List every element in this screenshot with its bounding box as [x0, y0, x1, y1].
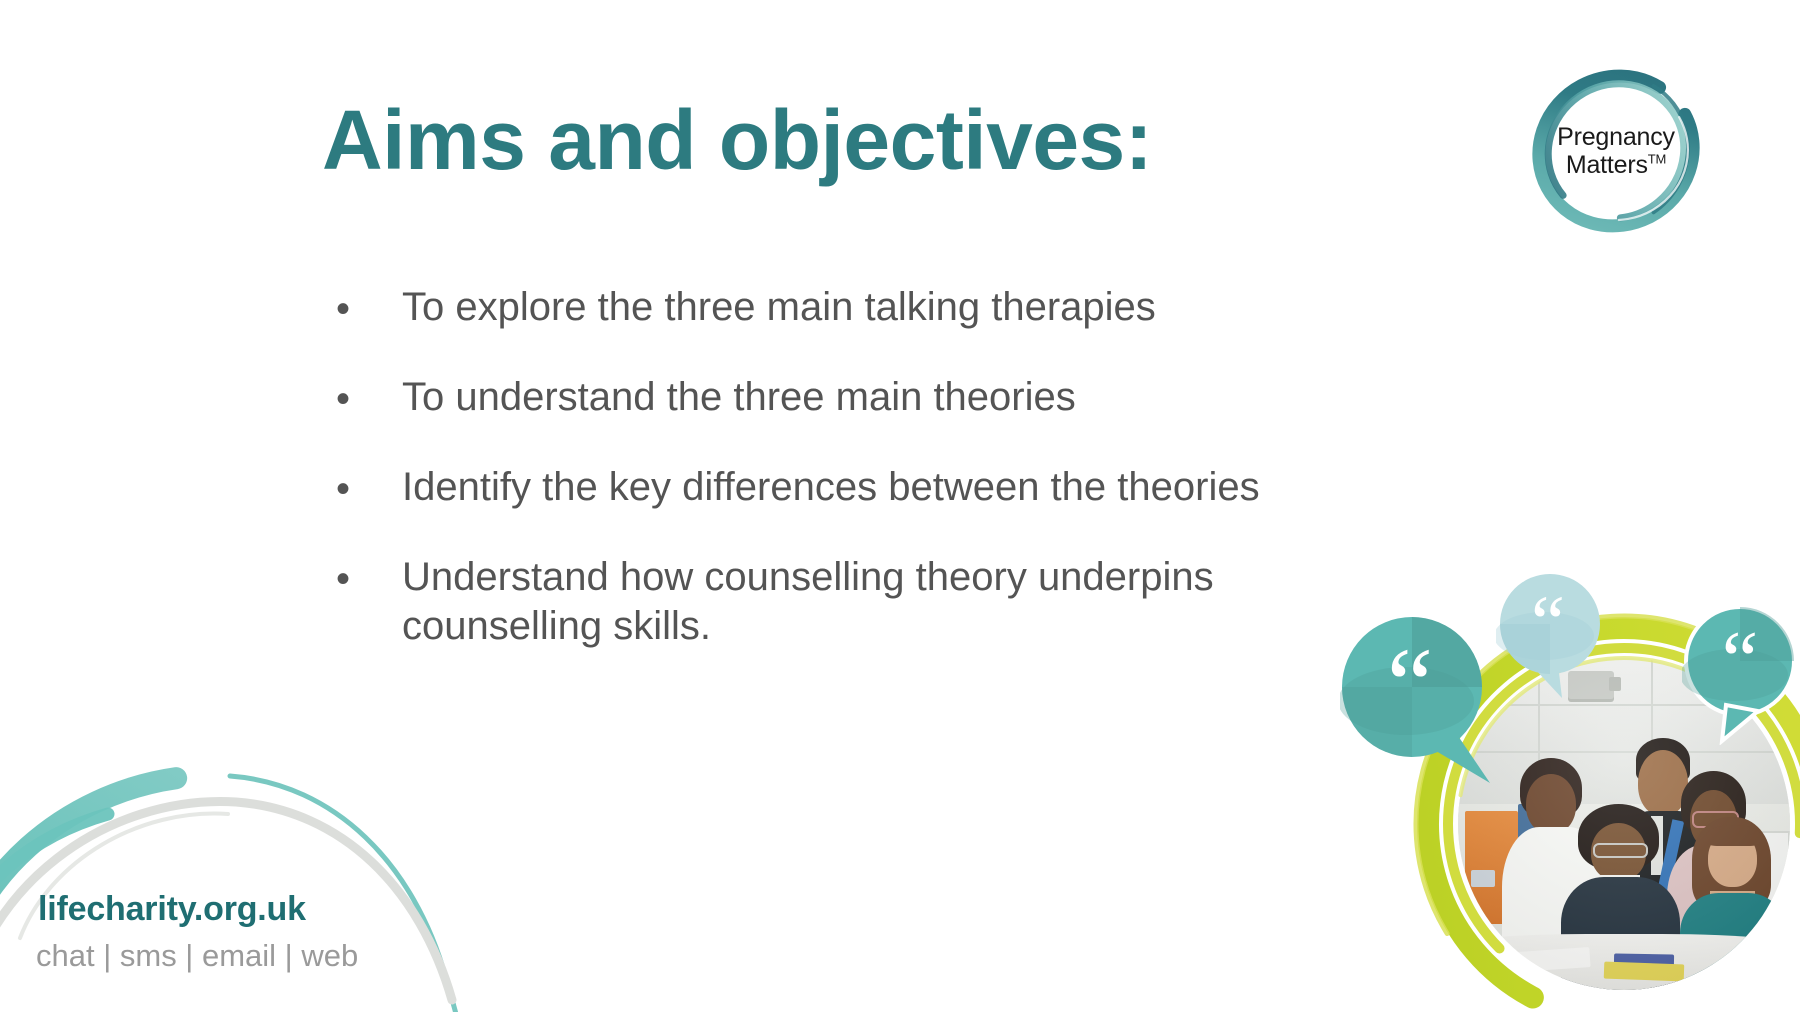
speech-bubble-small-top: “	[1496, 572, 1608, 700]
bullet-marker-icon: •	[330, 553, 402, 605]
bullet-text: To understand the three main theories	[402, 373, 1260, 422]
speech-bubble-right: “	[1682, 605, 1800, 745]
quote-glyph: “	[1722, 614, 1758, 705]
bullet-text: To explore the three main talking therap…	[402, 283, 1260, 332]
brand-url[interactable]: lifecharity.org.uk	[38, 890, 306, 929]
list-item: • To explore the three main talking ther…	[330, 283, 1260, 335]
bullet-marker-icon: •	[330, 283, 402, 335]
pregnancy-matters-logo: Pregnancy MattersTM	[1518, 62, 1714, 240]
list-item: • Identify the key differences between t…	[330, 463, 1260, 515]
quote-glyph: “	[1531, 581, 1565, 665]
quote-glyph: “	[1387, 627, 1433, 742]
list-item: • To understand the three main theories	[330, 373, 1260, 425]
bullet-text: Understand how counselling theory underp…	[402, 553, 1260, 651]
bullet-text: Identify the key differences between the…	[402, 463, 1260, 512]
bullet-list: • To explore the three main talking ther…	[330, 283, 1260, 651]
speech-bubble-large: “	[1340, 615, 1496, 795]
brand-channels: chat | sms | email | web	[36, 938, 358, 974]
slide-canvas: Aims and objectives: • To explore the th…	[0, 0, 1800, 1012]
list-item: • Understand how counselling theory unde…	[330, 553, 1260, 651]
page-title: Aims and objectives:	[322, 96, 1442, 184]
bullet-marker-icon: •	[330, 373, 402, 425]
logo-ring-outer	[1518, 62, 1714, 240]
bullet-marker-icon: •	[330, 463, 402, 515]
